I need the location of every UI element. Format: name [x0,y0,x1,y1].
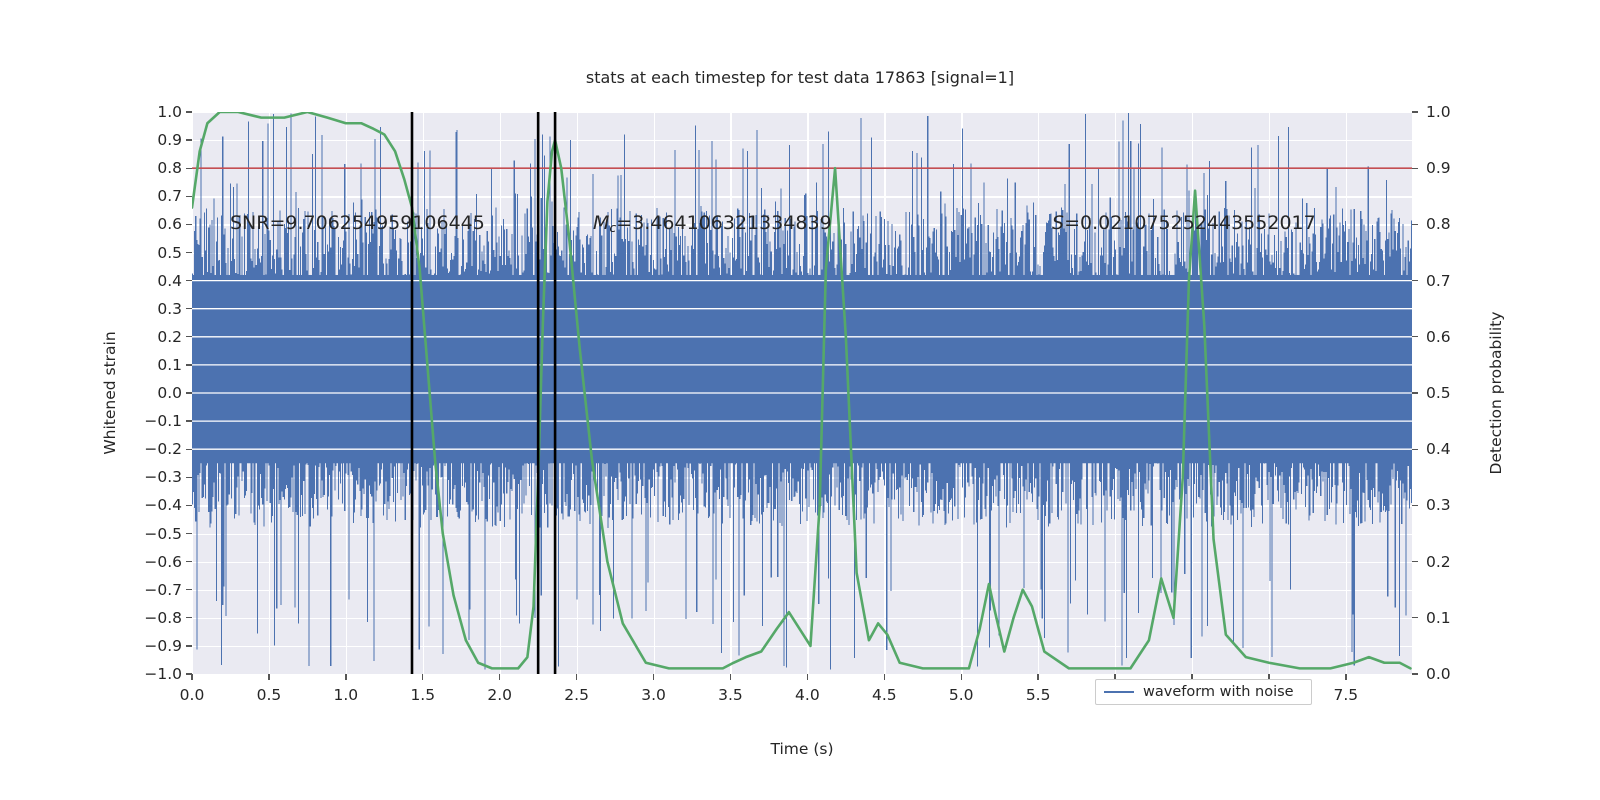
tick-mark [499,674,500,680]
bottom-tick-label: 4.5 [872,686,897,704]
left-tick-label: −0.2 [132,440,182,458]
tick-mark [186,617,192,618]
left-tick-label: 0.3 [132,300,182,318]
annotation-mc-prefix: = [616,212,632,234]
right-tick-label: 0.2 [1426,553,1451,571]
tick-mark [186,252,192,253]
legend-label-waveform: waveform with noise [1143,684,1294,700]
tick-mark [186,645,192,646]
left-tick-label: −0.9 [132,637,182,655]
tick-mark [576,674,577,680]
tick-mark [186,224,192,225]
tick-mark [1412,336,1418,337]
left-tick-label: −0.8 [132,609,182,627]
right-tick-label: 0.5 [1426,384,1451,402]
tick-mark [186,420,192,421]
bottom-tick-label: 2.0 [487,686,512,704]
right-tick-label: 0.7 [1426,272,1451,290]
legend-box: waveform with noise [1095,679,1312,705]
tick-mark [191,674,192,680]
bottom-tick-label: 7.5 [1334,686,1359,704]
bottom-tick-label: 1.0 [334,686,359,704]
tick-mark [1412,392,1418,393]
left-tick-label: 0.5 [132,244,182,262]
right-axis-label: Detection probability [1487,312,1505,475]
bottom-tick-label: 5.5 [1026,686,1051,704]
right-tick-label: 0.3 [1426,496,1451,514]
tick-mark [186,477,192,478]
left-tick-label: 0.7 [132,187,182,205]
left-tick-label: 0.9 [132,131,182,149]
left-tick-label: −0.7 [132,581,182,599]
left-axis-label: Whitened strain [101,331,119,454]
x-axis-label: Time (s) [770,740,833,758]
tick-mark [186,589,192,590]
legend-swatch-waveform [1104,691,1134,693]
tick-mark [1412,224,1418,225]
tick-mark [1412,617,1418,618]
tick-mark [961,674,962,680]
right-tick-label: 0.1 [1426,609,1451,627]
tick-mark [186,533,192,534]
tick-mark [1412,505,1418,506]
bottom-tick-label: 3.5 [718,686,743,704]
left-tick-label: −0.5 [132,525,182,543]
left-tick-label: −1.0 [132,665,182,683]
bottom-tick-label: 4.0 [795,686,820,704]
annotation-s-value: 0.021075252443552017 [1080,212,1316,234]
overlay-series [192,112,1412,674]
left-tick-label: −0.4 [132,496,182,514]
annotation-snr-prefix: SNR= [230,212,285,234]
tick-mark [186,280,192,281]
bottom-tick-label: 0.5 [257,686,282,704]
tick-mark [186,449,192,450]
right-tick-label: 0.9 [1426,159,1451,177]
tick-mark [186,392,192,393]
right-tick-label: 0.6 [1426,328,1451,346]
tick-mark [186,364,192,365]
left-tick-label: 0.0 [132,384,182,402]
tick-mark [1412,561,1418,562]
tick-mark [345,674,346,680]
annotation-s-prefix: = [1064,212,1080,234]
figure-canvas: stats at each timestep for test data 178… [0,0,1600,800]
left-tick-label: 0.2 [132,328,182,346]
tick-mark [807,674,808,680]
tick-mark [1412,111,1418,112]
tick-mark [186,196,192,197]
annotation-snr-value: 9.706254959106445 [285,212,484,234]
tick-mark [186,168,192,169]
figure-title: stats at each timestep for test data 178… [0,68,1600,87]
left-tick-label: 0.1 [132,356,182,374]
tick-mark [186,111,192,112]
left-tick-label: −0.3 [132,468,182,486]
tick-mark [422,674,423,680]
tick-mark [1412,168,1418,169]
tick-mark [186,336,192,337]
left-tick-label: −0.6 [132,553,182,571]
tick-mark [186,561,192,562]
tick-mark [268,674,269,680]
annotation-snr: SNR=9.706254959106445 [230,212,485,234]
left-tick-label: 0.4 [132,272,182,290]
annotation-s-symbol: S [1052,212,1064,234]
tick-mark [1037,674,1038,680]
tick-mark [884,674,885,680]
right-tick-label: 0.8 [1426,215,1451,233]
left-tick-label: 0.6 [132,215,182,233]
tick-mark [186,139,192,140]
left-tick-label: 1.0 [132,103,182,121]
tick-mark [1345,674,1346,680]
tick-mark [186,308,192,309]
annotation-mc-symbol: M [593,212,609,234]
bottom-tick-label: 0.0 [180,686,205,704]
right-tick-label: 0.0 [1426,665,1451,683]
bottom-tick-label: 1.5 [410,686,435,704]
annotation-s: S=0.021075252443552017 [1052,212,1316,234]
left-tick-label: 0.8 [132,159,182,177]
bottom-tick-label: 5.0 [949,686,974,704]
tick-mark [186,505,192,506]
bottom-tick-label: 2.5 [564,686,589,704]
left-tick-label: −0.1 [132,412,182,430]
tick-mark [1412,449,1418,450]
annotation-mc-value: 3.464106321334839 [632,212,831,234]
tick-mark [653,674,654,680]
right-tick-label: 0.4 [1426,440,1451,458]
bottom-tick-label: 3.0 [641,686,666,704]
tick-mark [1412,280,1418,281]
tick-mark [730,674,731,680]
plot-axes: SNR=9.706254959106445 Mc=3.4641063213348… [192,112,1412,674]
annotation-chirp-mass: Mc=3.464106321334839 [593,212,832,235]
right-tick-label: 1.0 [1426,103,1451,121]
gridline-horizontal [192,674,1412,675]
tick-mark [1412,673,1418,674]
